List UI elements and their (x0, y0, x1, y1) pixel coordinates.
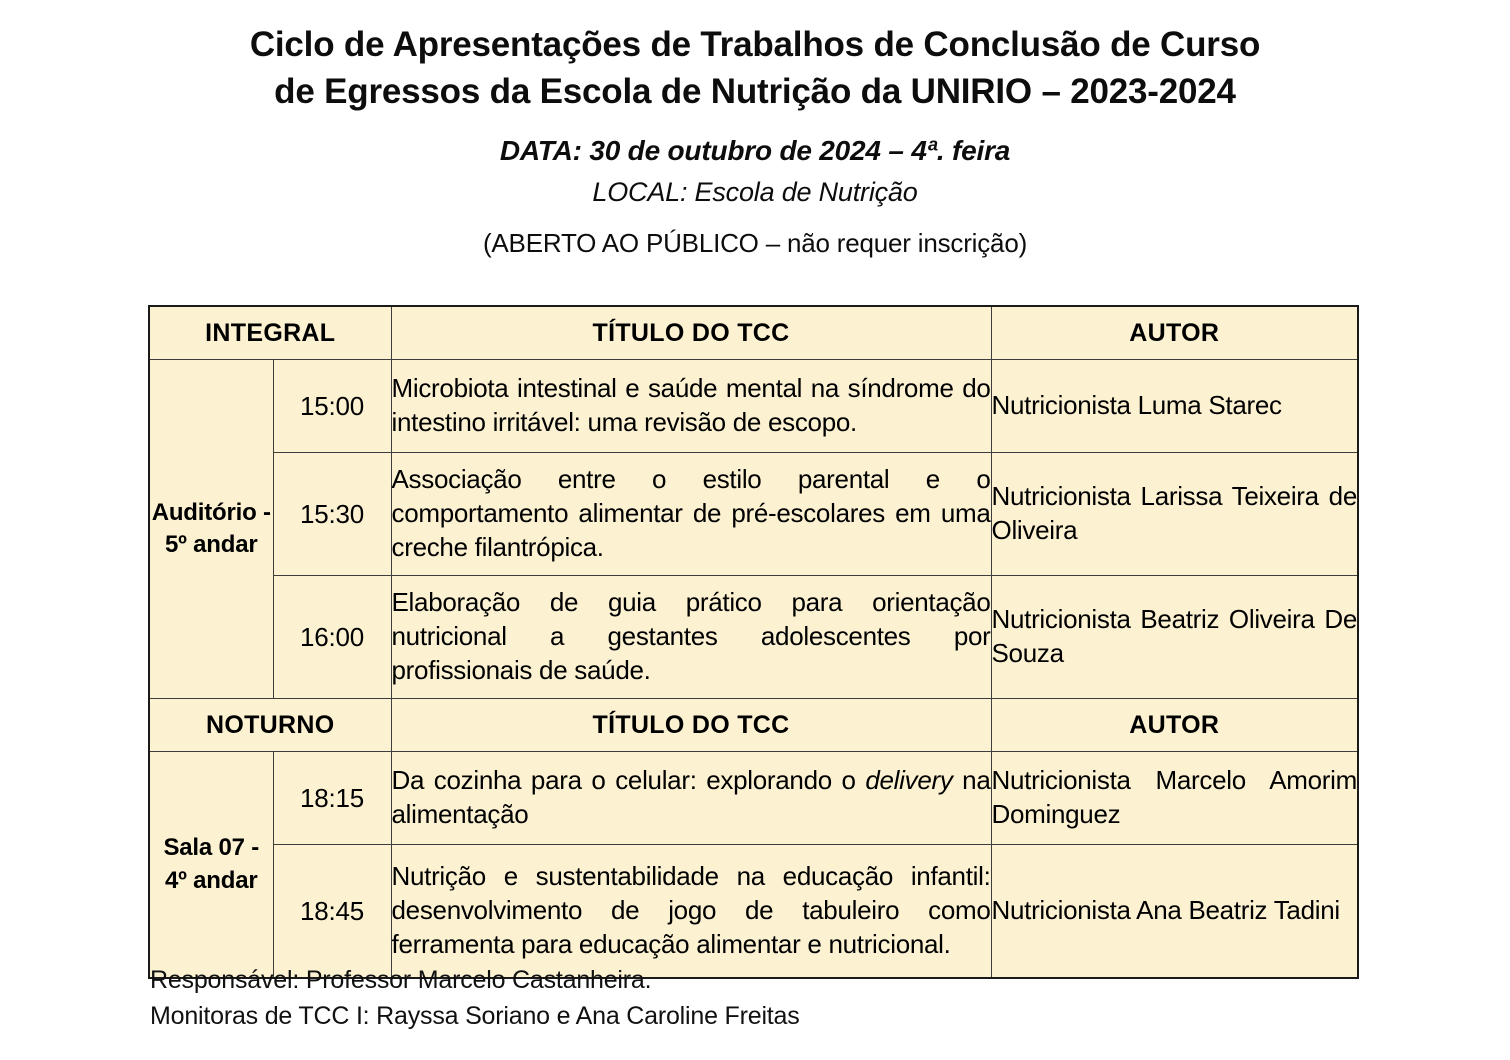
tcc-title-cell: Da cozinha para o celular: explorando o … (391, 752, 991, 845)
table-header-row-noturno: NOTURNO TÍTULO DO TCC AUTOR (149, 699, 1358, 752)
time-cell: 18:15 (273, 752, 391, 845)
time-cell: 15:30 (273, 453, 391, 576)
table-header-row-integral: INTEGRAL TÍTULO DO TCC AUTOR (149, 306, 1358, 360)
table-row: Auditório - 5º andar 15:00 Microbiota in… (149, 360, 1358, 453)
event-location: LOCAL: Escola de Nutrição (0, 177, 1510, 208)
tcc-title-cell: Microbiota intestinal e saúde mental na … (391, 360, 991, 453)
tcc-title-cell: Nutrição e sustentabilidade na educação … (391, 845, 991, 979)
column-header-shift-noturno: NOTURNO (149, 699, 391, 752)
tcc-title-cell: Elaboração de guia prático para orientaç… (391, 576, 991, 699)
table-row: 15:30 Associação entre o estilo parental… (149, 453, 1358, 576)
page-title: Ciclo de Apresentações de Trabalhos de C… (0, 0, 1510, 115)
footer-notes: Responsável: Professor Marcelo Castanhei… (150, 962, 800, 1035)
page-title-line-2: de Egressos da Escola de Nutrição da UNI… (0, 69, 1510, 116)
time-cell: 18:45 (273, 845, 391, 979)
column-header-shift-integral: INTEGRAL (149, 306, 391, 360)
time-cell: 16:00 (273, 576, 391, 699)
document-page: Ciclo de Apresentações de Trabalhos de C… (0, 0, 1510, 1060)
room-cell-auditorio: Auditório - 5º andar (149, 360, 273, 699)
footer-monitors: Monitoras de TCC I: Rayssa Soriano e Ana… (150, 998, 800, 1034)
column-header-title-integral: TÍTULO DO TCC (391, 306, 991, 360)
tcc-title-cell: Associação entre o estilo parental e o c… (391, 453, 991, 576)
time-cell: 15:00 (273, 360, 391, 453)
schedule-table: INTEGRAL TÍTULO DO TCC AUTOR Auditório -… (148, 305, 1359, 979)
event-access-note: (ABERTO AO PÚBLICO – não requer inscriçã… (0, 228, 1510, 259)
tcc-title-text-italic: delivery (865, 765, 952, 795)
author-cell: Nutricionista Beatriz Oliveira De Souza (991, 576, 1358, 699)
author-cell: Nutricionista Marcelo Amorim Dominguez (991, 752, 1358, 845)
author-cell: Nutricionista Luma Starec (991, 360, 1358, 453)
column-header-title-noturno: TÍTULO DO TCC (391, 699, 991, 752)
column-header-author-noturno: AUTOR (991, 699, 1358, 752)
author-cell: Nutricionista Ana Beatriz Tadini (991, 845, 1358, 979)
table-row: 16:00 Elaboração de guia prático para or… (149, 576, 1358, 699)
tcc-title-text-pre: Da cozinha para o celular: explorando o (392, 765, 866, 795)
author-cell: Nutricionista Larissa Teixeira de Olivei… (991, 453, 1358, 576)
column-header-author-integral: AUTOR (991, 306, 1358, 360)
footer-responsible: Responsável: Professor Marcelo Castanhei… (150, 962, 800, 998)
room-cell-sala07: Sala 07 - 4º andar (149, 752, 273, 979)
table-row: Sala 07 - 4º andar 18:15 Da cozinha para… (149, 752, 1358, 845)
table-row: 18:45 Nutrição e sustentabilidade na edu… (149, 845, 1358, 979)
schedule-table-wrapper: INTEGRAL TÍTULO DO TCC AUTOR Auditório -… (148, 305, 1357, 979)
event-date: DATA: 30 de outubro de 2024 – 4ª. feira (0, 135, 1510, 167)
page-title-line-1: Ciclo de Apresentações de Trabalhos de C… (0, 22, 1510, 69)
